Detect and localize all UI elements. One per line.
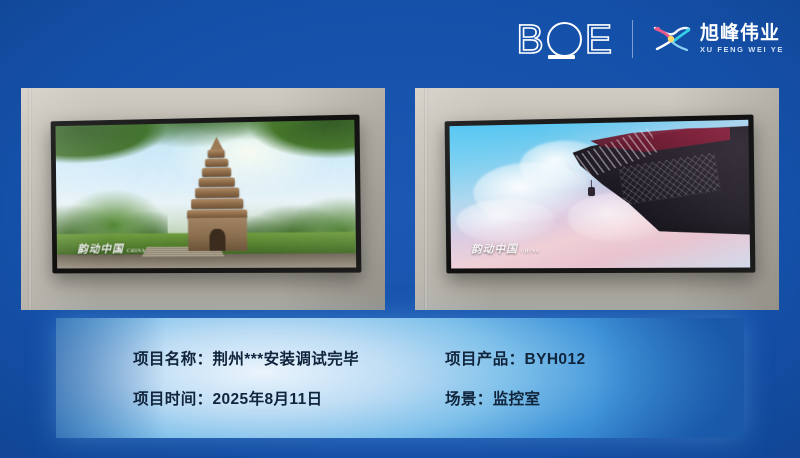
- pagoda-tier-3: [202, 168, 232, 177]
- cloud-3: [456, 199, 556, 243]
- boe-logo-underline: [548, 55, 575, 59]
- boe-logo-letters: B E: [516, 22, 612, 56]
- xufeng-logo: 旭峰伟业 XU FENG WEI YE: [649, 22, 784, 56]
- scene-line: 场景：监控室: [445, 387, 744, 409]
- xufeng-name-cn: 旭峰伟业: [700, 24, 784, 43]
- photo-row: 韵动中国CHINA: [21, 88, 779, 310]
- xufeng-logo-text: 旭峰伟业 XU FENG WEI YE: [700, 24, 784, 54]
- butterfly-x-mark-icon: [649, 22, 693, 56]
- left-watermark-text: 韵动中国: [77, 244, 124, 256]
- boe-logo: B E: [516, 16, 616, 62]
- right-display-screen: 韵动中国CHINA: [449, 120, 750, 269]
- left-photo: 韵动中国CHINA: [21, 88, 385, 310]
- right-wall-seam: [424, 88, 428, 310]
- project-name-line: 项目名称：荆州***安装调试完毕: [133, 347, 445, 369]
- pagoda-tier-4: [198, 177, 235, 186]
- boe-letter-b: B: [516, 22, 543, 56]
- pagoda-tier-6: [191, 198, 244, 209]
- project-date-line: 项目时间：2025年8月11日: [133, 387, 445, 409]
- left-display-bezel: 韵动中国CHINA: [51, 115, 362, 274]
- left-display-panel: 韵动中国CHINA: [51, 115, 362, 274]
- logo-bar: B E 旭峰伟业: [516, 14, 784, 64]
- temple-eave-scene: 韵动中国CHINA: [449, 120, 750, 269]
- right-display-panel: 韵动中国CHINA: [445, 115, 756, 274]
- left-watermark-sub: CHINA: [127, 250, 146, 255]
- pagoda-tier-5: [195, 187, 239, 197]
- right-display-bezel: 韵动中国CHINA: [445, 115, 756, 274]
- pagoda-doorway: [209, 228, 226, 250]
- boe-letter-e: E: [585, 22, 612, 56]
- left-wall-seam: [28, 88, 32, 310]
- pagoda-tier-2: [205, 159, 229, 167]
- project-product-line: 项目产品：BYH012: [445, 347, 744, 369]
- right-screen-watermark: 韵动中国CHINA: [471, 241, 539, 257]
- slide-canvas: B E 旭峰伟业: [0, 0, 800, 458]
- pagoda-tier-1: [207, 150, 225, 158]
- left-screen-watermark: 韵动中国CHINA: [77, 241, 145, 257]
- right-photo: 韵动中国CHINA: [415, 88, 779, 310]
- logo-divider: [632, 20, 633, 58]
- caption-panel: 项目名称：荆州***安装调试完毕 项目产品：BYH012 项目时间：2025年8…: [56, 318, 744, 438]
- xufeng-name-en: XU FENG WEI YE: [700, 46, 784, 54]
- caption-grid: 项目名称：荆州***安装调试完毕 项目产品：BYH012 项目时间：2025年8…: [56, 318, 744, 438]
- boe-letter-o-circle: [547, 22, 582, 57]
- right-watermark-text: 韵动中国: [471, 244, 518, 256]
- pagoda-scene: 韵动中国CHINA: [55, 120, 356, 269]
- right-watermark-sub: CHINA: [521, 250, 540, 255]
- left-display-screen: 韵动中国CHINA: [55, 120, 356, 269]
- pagoda-tower: [182, 140, 252, 251]
- hanging-lantern: [588, 187, 595, 196]
